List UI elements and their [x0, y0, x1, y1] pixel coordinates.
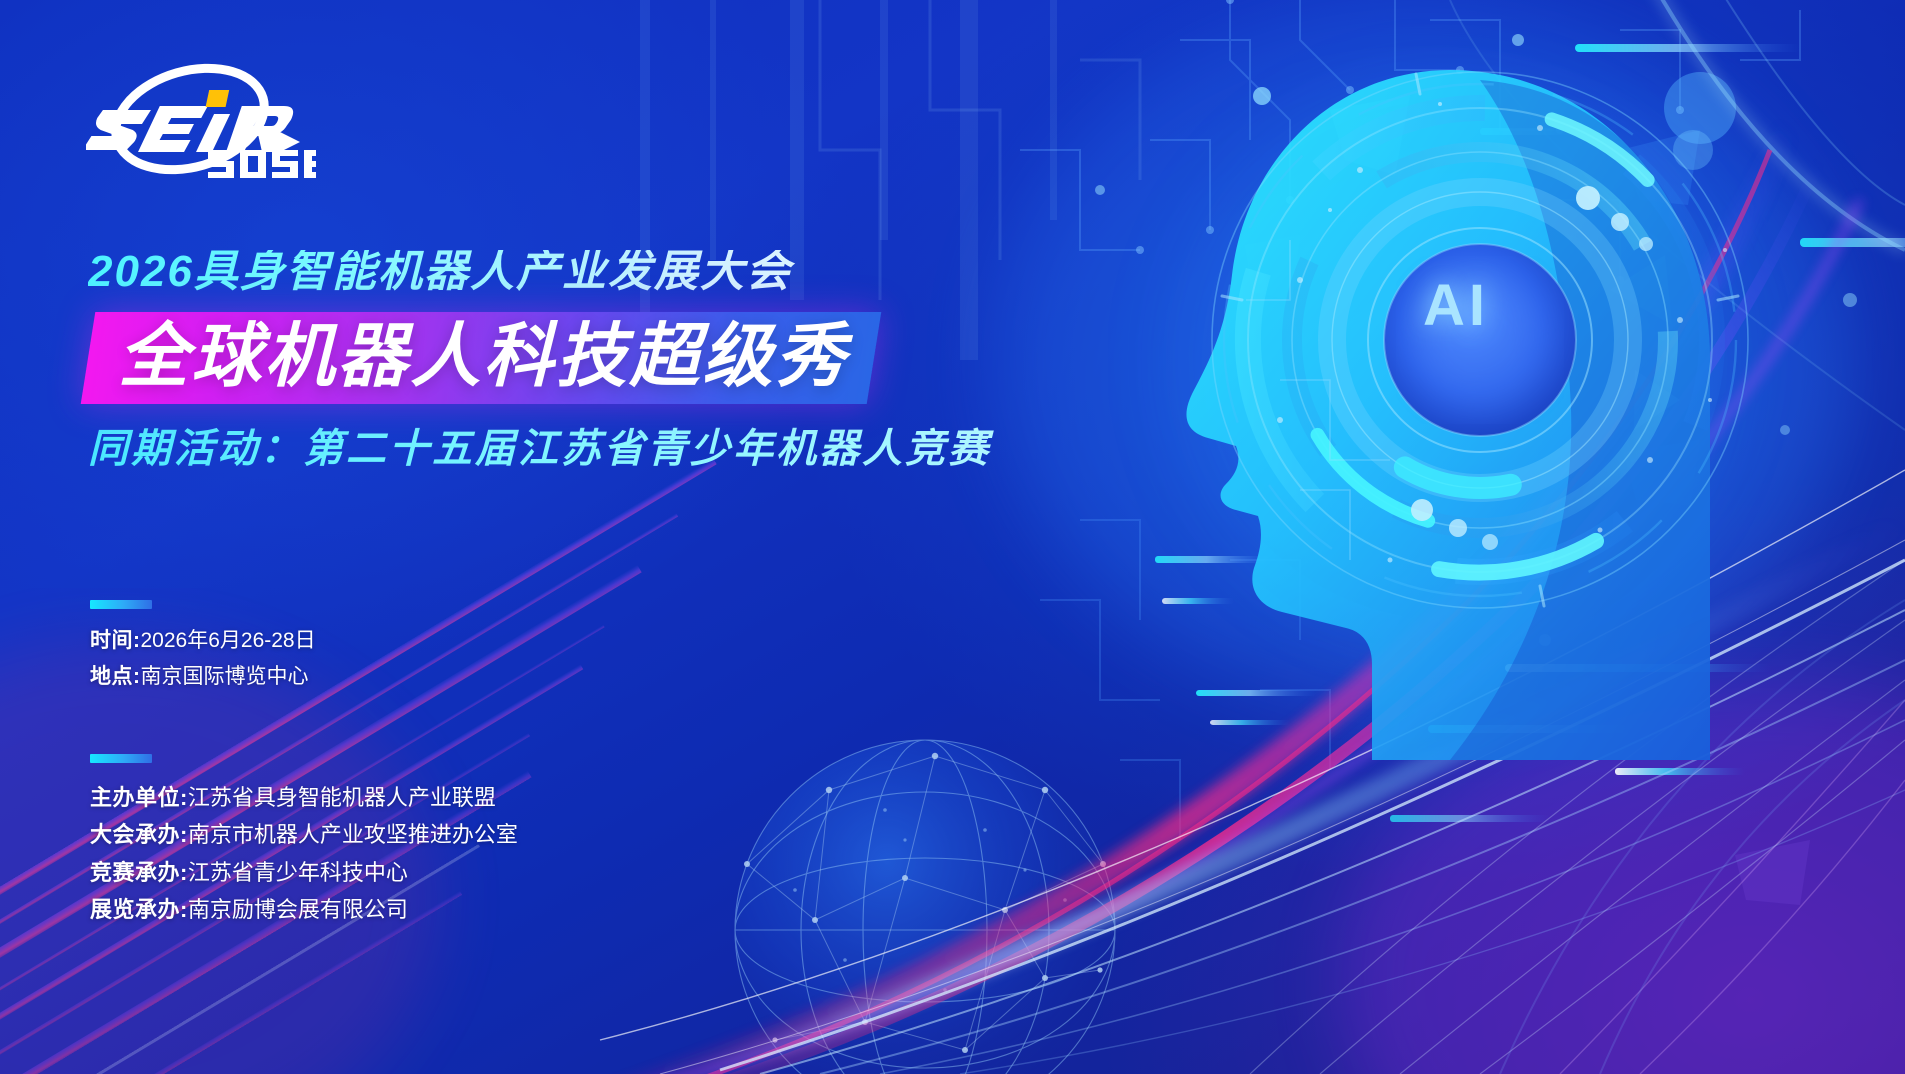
chin-glow-bars [1196, 690, 1316, 725]
info-row-venue: 地点:南京国际博览中心 [90, 659, 316, 695]
logo-i-dot [206, 90, 230, 107]
organizer-key: 展览承办: [90, 897, 188, 922]
organizers-block: 主办单位:江苏省具身智能机器人产业联盟 大会承办:南京市机器人产业攻坚推进办公室… [90, 754, 518, 929]
seir-logo [86, 58, 316, 180]
conference-subtitle: 2026具身智能机器人产业发展大会 [88, 250, 1088, 294]
info-key: 时间: [90, 629, 141, 652]
event-poster: 2026具身智能机器人产业发展大会 全球机器人科技超级秀 同期活动：第二十五届江… [0, 0, 1905, 1074]
organizer-key: 大会承办: [90, 822, 188, 847]
info-value: 南京国际博览中心 [141, 665, 309, 688]
organizers-divider-rule [90, 754, 152, 763]
concurrent-event-line: 同期活动：第二十五届江苏省青少年机器人竞赛 [88, 426, 1088, 472]
organizer-key: 主办单位: [90, 785, 188, 810]
organizer-row-competition: 竞赛承办:江苏省青少年科技中心 [90, 854, 518, 891]
organizer-row-host: 主办单位:江苏省具身智能机器人产业联盟 [90, 779, 518, 816]
organizer-row-conference: 大会承办:南京市机器人产业攻坚推进办公室 [90, 816, 518, 853]
event-info-block: 时间:2026年6月26-28日 地点:南京国际博览中心 [90, 600, 316, 695]
organizer-value: 江苏省具身智能机器人产业联盟 [188, 785, 496, 810]
organizer-key: 竞赛承办: [90, 860, 188, 885]
info-row-time: 时间:2026年6月26-28日 [90, 623, 316, 659]
info-value: 2026年6月26-28日 [141, 629, 316, 652]
info-key: 地点: [90, 665, 141, 688]
main-headline-banner: 全球机器人科技超级秀 [81, 312, 882, 404]
title-block: 2026具身智能机器人产业发展大会 全球机器人科技超级秀 同期活动：第二十五届江… [88, 250, 1088, 472]
main-headline: 全球机器人科技超级秀 [118, 321, 848, 391]
organizer-value: 南京市机器人产业攻坚推进办公室 [188, 822, 518, 847]
organizer-value: 江苏省青少年科技中心 [188, 860, 408, 885]
organizer-row-exhibition: 展览承办:南京励博会展有限公司 [90, 891, 518, 928]
ai-core-label: AI [1396, 272, 1516, 339]
info-divider-rule [90, 600, 152, 609]
organizer-value: 南京励博会展有限公司 [188, 897, 408, 922]
